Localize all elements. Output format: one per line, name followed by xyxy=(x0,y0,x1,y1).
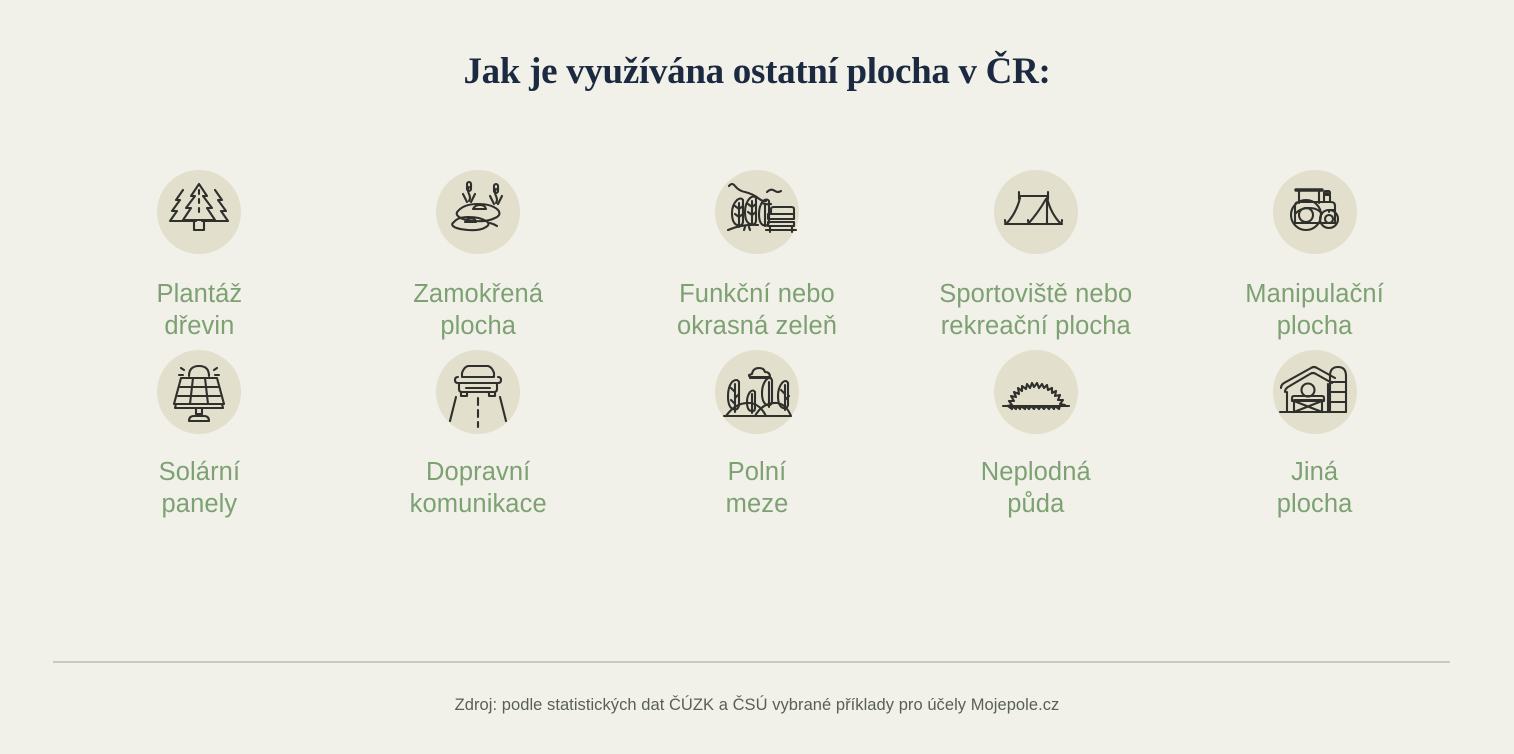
category-label: Plantáž dřevin xyxy=(157,278,243,343)
park-trees-bench-icon xyxy=(715,170,799,254)
icon-circle xyxy=(1273,350,1357,434)
category-item-polni-meze[interactable]: Polní meze xyxy=(618,350,897,521)
icon-circle xyxy=(436,170,520,254)
category-item-solarni-panely[interactable]: Solární panely xyxy=(60,350,339,521)
category-item-manipulacni-plocha[interactable]: Manipulační plocha xyxy=(1175,170,1454,343)
thorny-bush-icon xyxy=(994,350,1078,434)
trees-hills-cloud-icon xyxy=(715,350,799,434)
category-label: Dopravní komunikace xyxy=(410,456,547,521)
icon-circle xyxy=(157,170,241,254)
car-road-icon xyxy=(436,350,520,434)
icon-circle xyxy=(994,170,1078,254)
category-item-dopravni-komunikace[interactable]: Dopravní komunikace xyxy=(339,350,618,521)
category-row-1: Plantáž dřevin xyxy=(60,170,1454,343)
category-label: Jiná plocha xyxy=(1277,456,1353,521)
infographic-page: Jak je využívána ostatní plocha v ČR: xyxy=(0,0,1514,754)
icon-circle xyxy=(436,350,520,434)
source-note: Zdroj: podle statistických dat ČÚZK a ČS… xyxy=(0,696,1514,715)
conifer-forest-icon xyxy=(157,170,241,254)
page-title: Jak je využívána ostatní plocha v ČR: xyxy=(0,50,1514,93)
category-item-funkcni-okrasna-zelen[interactable]: Funkční nebo okrasná zeleň xyxy=(618,170,897,343)
icon-circle xyxy=(994,350,1078,434)
wetland-pond-cattails-icon xyxy=(436,170,520,254)
category-item-zamokrena-plocha[interactable]: Zamokřená plocha xyxy=(339,170,618,343)
tent-icon xyxy=(994,170,1078,254)
category-label: Neplodná půda xyxy=(981,456,1091,521)
icon-circle xyxy=(157,350,241,434)
category-item-sportoviste-rekreacni[interactable]: Sportoviště nebo rekreační plocha xyxy=(896,170,1175,343)
barn-silo-icon xyxy=(1273,350,1357,434)
category-grid: Plantáž dřevin xyxy=(60,170,1454,521)
category-label: Polní meze xyxy=(726,456,789,521)
category-item-plantaz-drevin[interactable]: Plantáž dřevin xyxy=(60,170,339,343)
category-item-neplodna-puda[interactable]: Neplodná půda xyxy=(896,350,1175,521)
footer-divider xyxy=(53,661,1450,663)
category-item-jina-plocha[interactable]: Jiná plocha xyxy=(1175,350,1454,521)
icon-circle xyxy=(715,170,799,254)
tractor-icon xyxy=(1273,170,1357,254)
category-label: Sportoviště nebo rekreační plocha xyxy=(939,278,1132,343)
category-label: Zamokřená plocha xyxy=(413,278,543,343)
category-label: Funkční nebo okrasná zeleň xyxy=(677,278,837,343)
category-label: Solární panely xyxy=(159,456,241,521)
category-row-2: Solární panely xyxy=(60,350,1454,521)
category-label: Manipulační plocha xyxy=(1245,278,1384,343)
icon-circle xyxy=(1273,170,1357,254)
icon-circle xyxy=(715,350,799,434)
solar-panel-icon xyxy=(157,350,241,434)
